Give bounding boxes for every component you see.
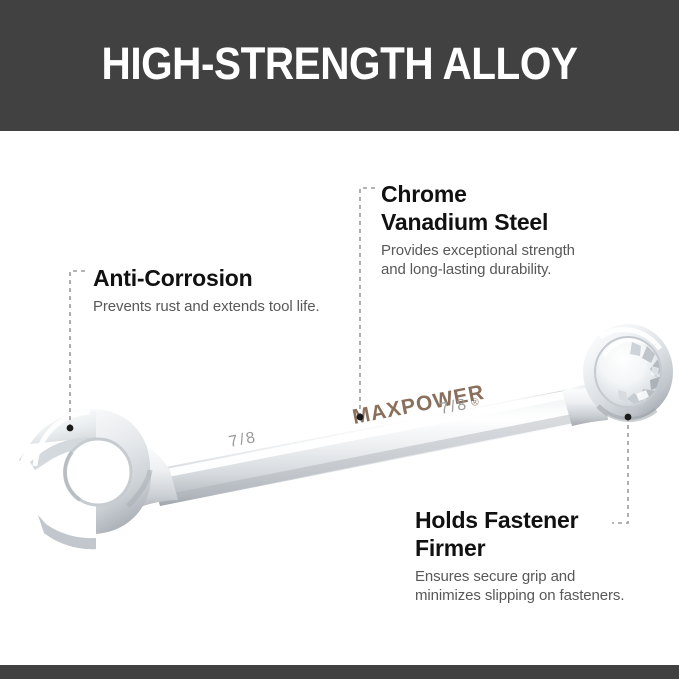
callout-title: Holds Fastener Firmer (415, 506, 665, 562)
callout-subtitle: Ensures secure grip and minimizes slippi… (415, 567, 665, 605)
callout-anti-corrosion: Anti-Corrosion Prevents rust and extends… (93, 264, 393, 316)
callout-chrome-vanadium: Chrome Vanadium Steel Provides exception… (381, 180, 641, 279)
product-infographic: HIGH-STRENGTH ALLOY (0, 0, 679, 679)
callout-title: Chrome Vanadium Steel (381, 180, 641, 236)
wrench-open-end (17, 409, 152, 549)
wrench-box-end (583, 324, 673, 420)
size-marking-left: 7/8 (228, 429, 259, 451)
callout-subtitle: Prevents rust and extends tool life. (93, 297, 393, 316)
callout-subtitle: Provides exceptional strength and long-l… (381, 241, 641, 279)
callout-title: Anti-Corrosion (93, 264, 393, 292)
callout-holds-fastener: Holds Fastener Firmer Ensures secure gri… (415, 506, 665, 605)
footer-band (0, 665, 679, 679)
